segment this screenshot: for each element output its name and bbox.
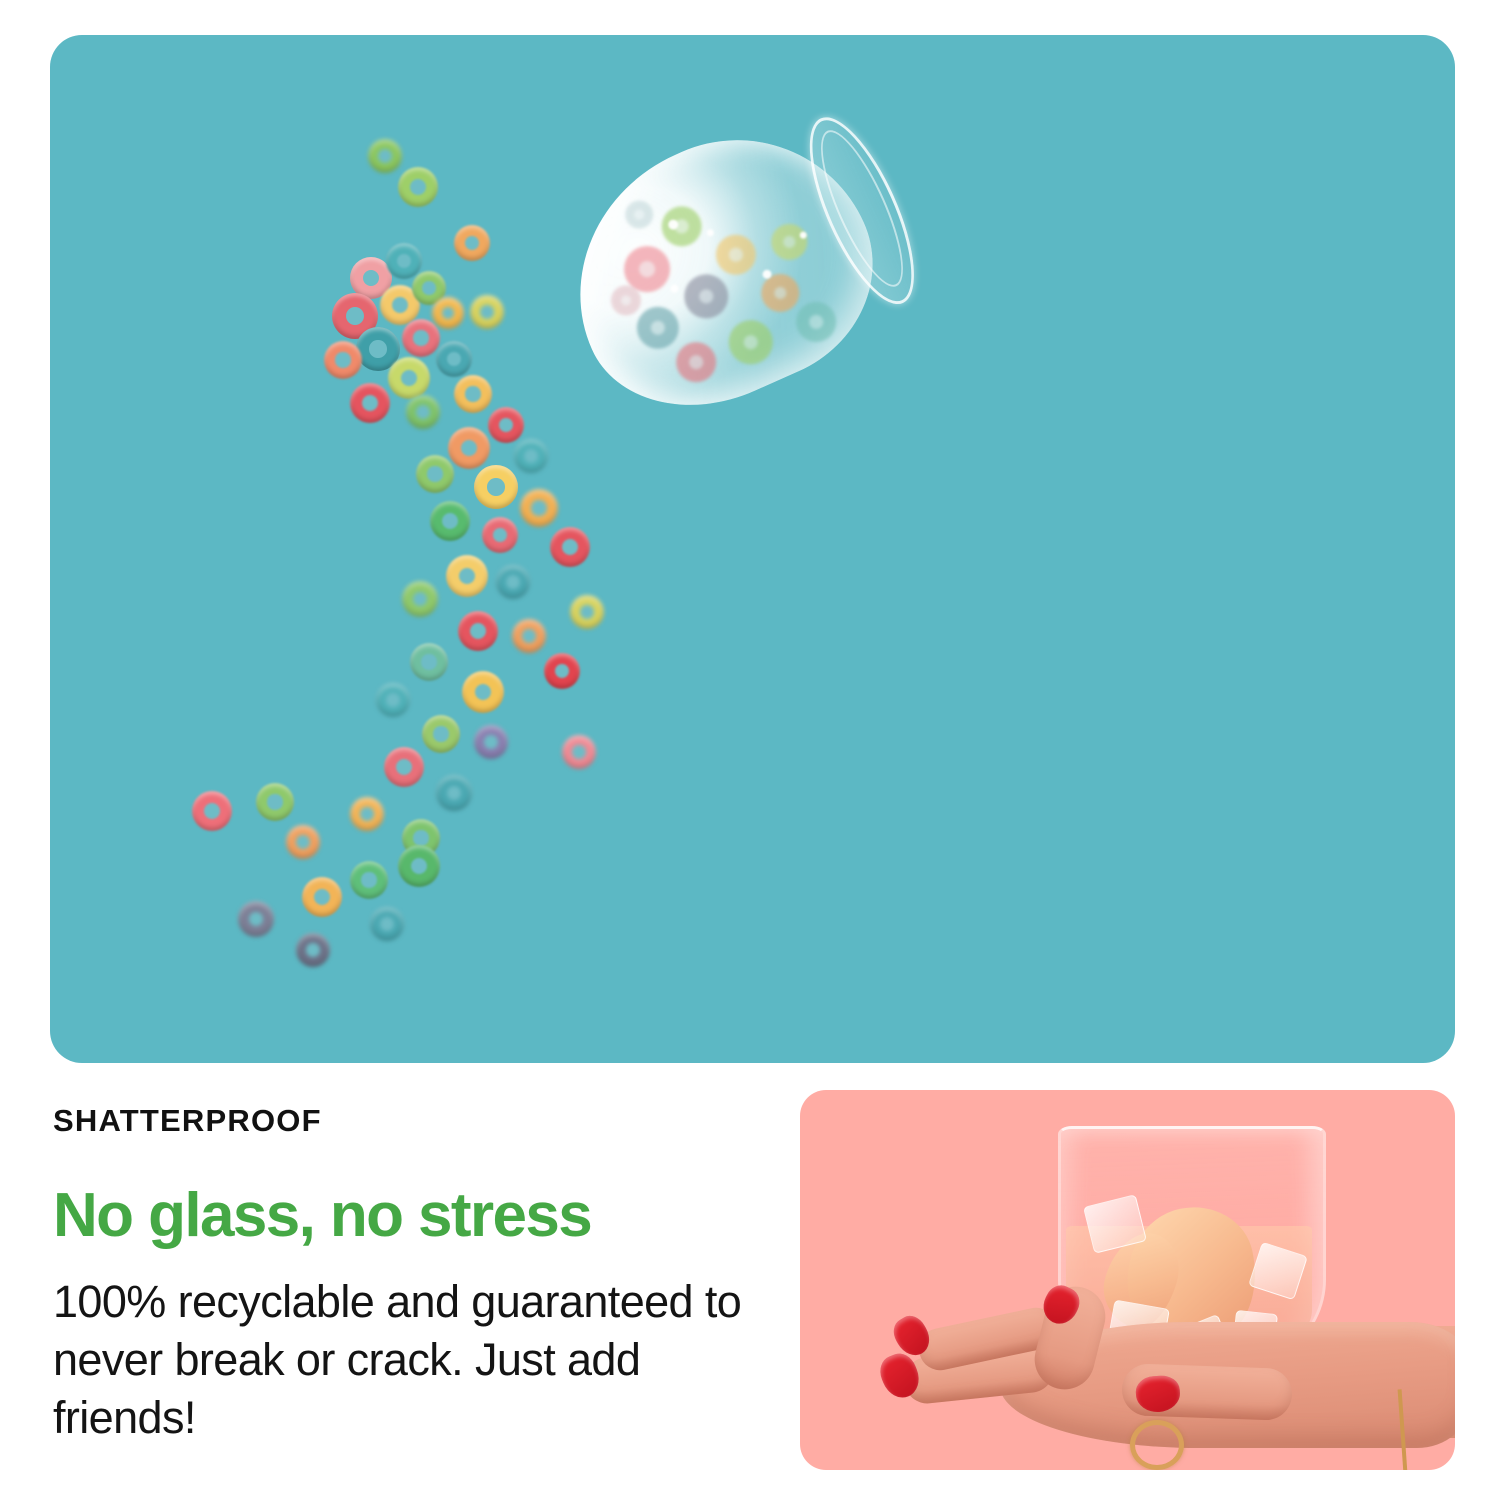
cereal-loop <box>324 341 362 379</box>
secondary-image-panel <box>800 1090 1455 1470</box>
cereal-loop <box>544 653 580 689</box>
cereal-loop <box>512 619 546 653</box>
eyebrow-label: SHATTERPROOF <box>53 1105 743 1136</box>
cereal-loop <box>550 527 590 567</box>
hero-image-panel <box>50 35 1455 1063</box>
cereal-loop <box>376 683 410 717</box>
cereal-loop <box>350 861 388 899</box>
cereal-loop <box>286 825 320 859</box>
cereal-loop <box>570 595 604 629</box>
cereal-loop <box>454 375 492 413</box>
cereal-loop <box>384 747 424 787</box>
cereal-loop <box>398 845 440 887</box>
cereal-loop <box>302 877 342 917</box>
cereal-loop <box>458 611 498 651</box>
cereal-loop <box>238 901 274 937</box>
cereal-loop <box>436 341 472 377</box>
copy-block: SHATTERPROOF No glass, no stress 100% re… <box>53 1105 743 1447</box>
cereal-loop <box>350 383 390 423</box>
cereal-loop <box>402 581 438 617</box>
cereal-loop <box>370 907 404 941</box>
cereal-loop <box>462 671 504 713</box>
cereal-loop <box>514 439 548 473</box>
cereal-loop <box>432 297 464 329</box>
cereal-loop <box>474 725 508 759</box>
cereal-loop <box>368 139 402 173</box>
cereal-loop <box>386 243 422 279</box>
cereal-loop <box>350 797 384 831</box>
headline: No glass, no stress <box>53 1184 743 1247</box>
cereal-loop <box>482 517 518 553</box>
cereal-loop <box>454 225 490 261</box>
cereal-loop <box>562 735 596 769</box>
cereal-loop <box>410 643 448 681</box>
cereal-loop <box>388 357 430 399</box>
cereal-loop <box>474 465 518 509</box>
cereal-loop <box>430 501 470 541</box>
cereal-loop <box>422 715 460 753</box>
cereal-loop <box>436 775 472 811</box>
cereal-loop <box>446 555 488 597</box>
cereal-loop <box>470 295 504 329</box>
cereal-loop <box>496 565 530 599</box>
cereal-loop <box>256 783 294 821</box>
cereal-loop <box>416 455 454 493</box>
cereal-loop <box>398 167 438 207</box>
cereal-loop <box>296 933 330 967</box>
tumbler-glass <box>533 84 936 447</box>
cereal-loop <box>488 407 524 443</box>
cereal-loop <box>402 319 440 357</box>
finger-ring <box>1130 1420 1184 1470</box>
cereal-loop <box>192 791 232 831</box>
sub-copy: 100% recyclable and guaranteed to never … <box>53 1273 743 1447</box>
cereal-loop <box>406 395 440 429</box>
cereal-loop <box>448 427 490 469</box>
cereal-loop <box>520 489 558 527</box>
